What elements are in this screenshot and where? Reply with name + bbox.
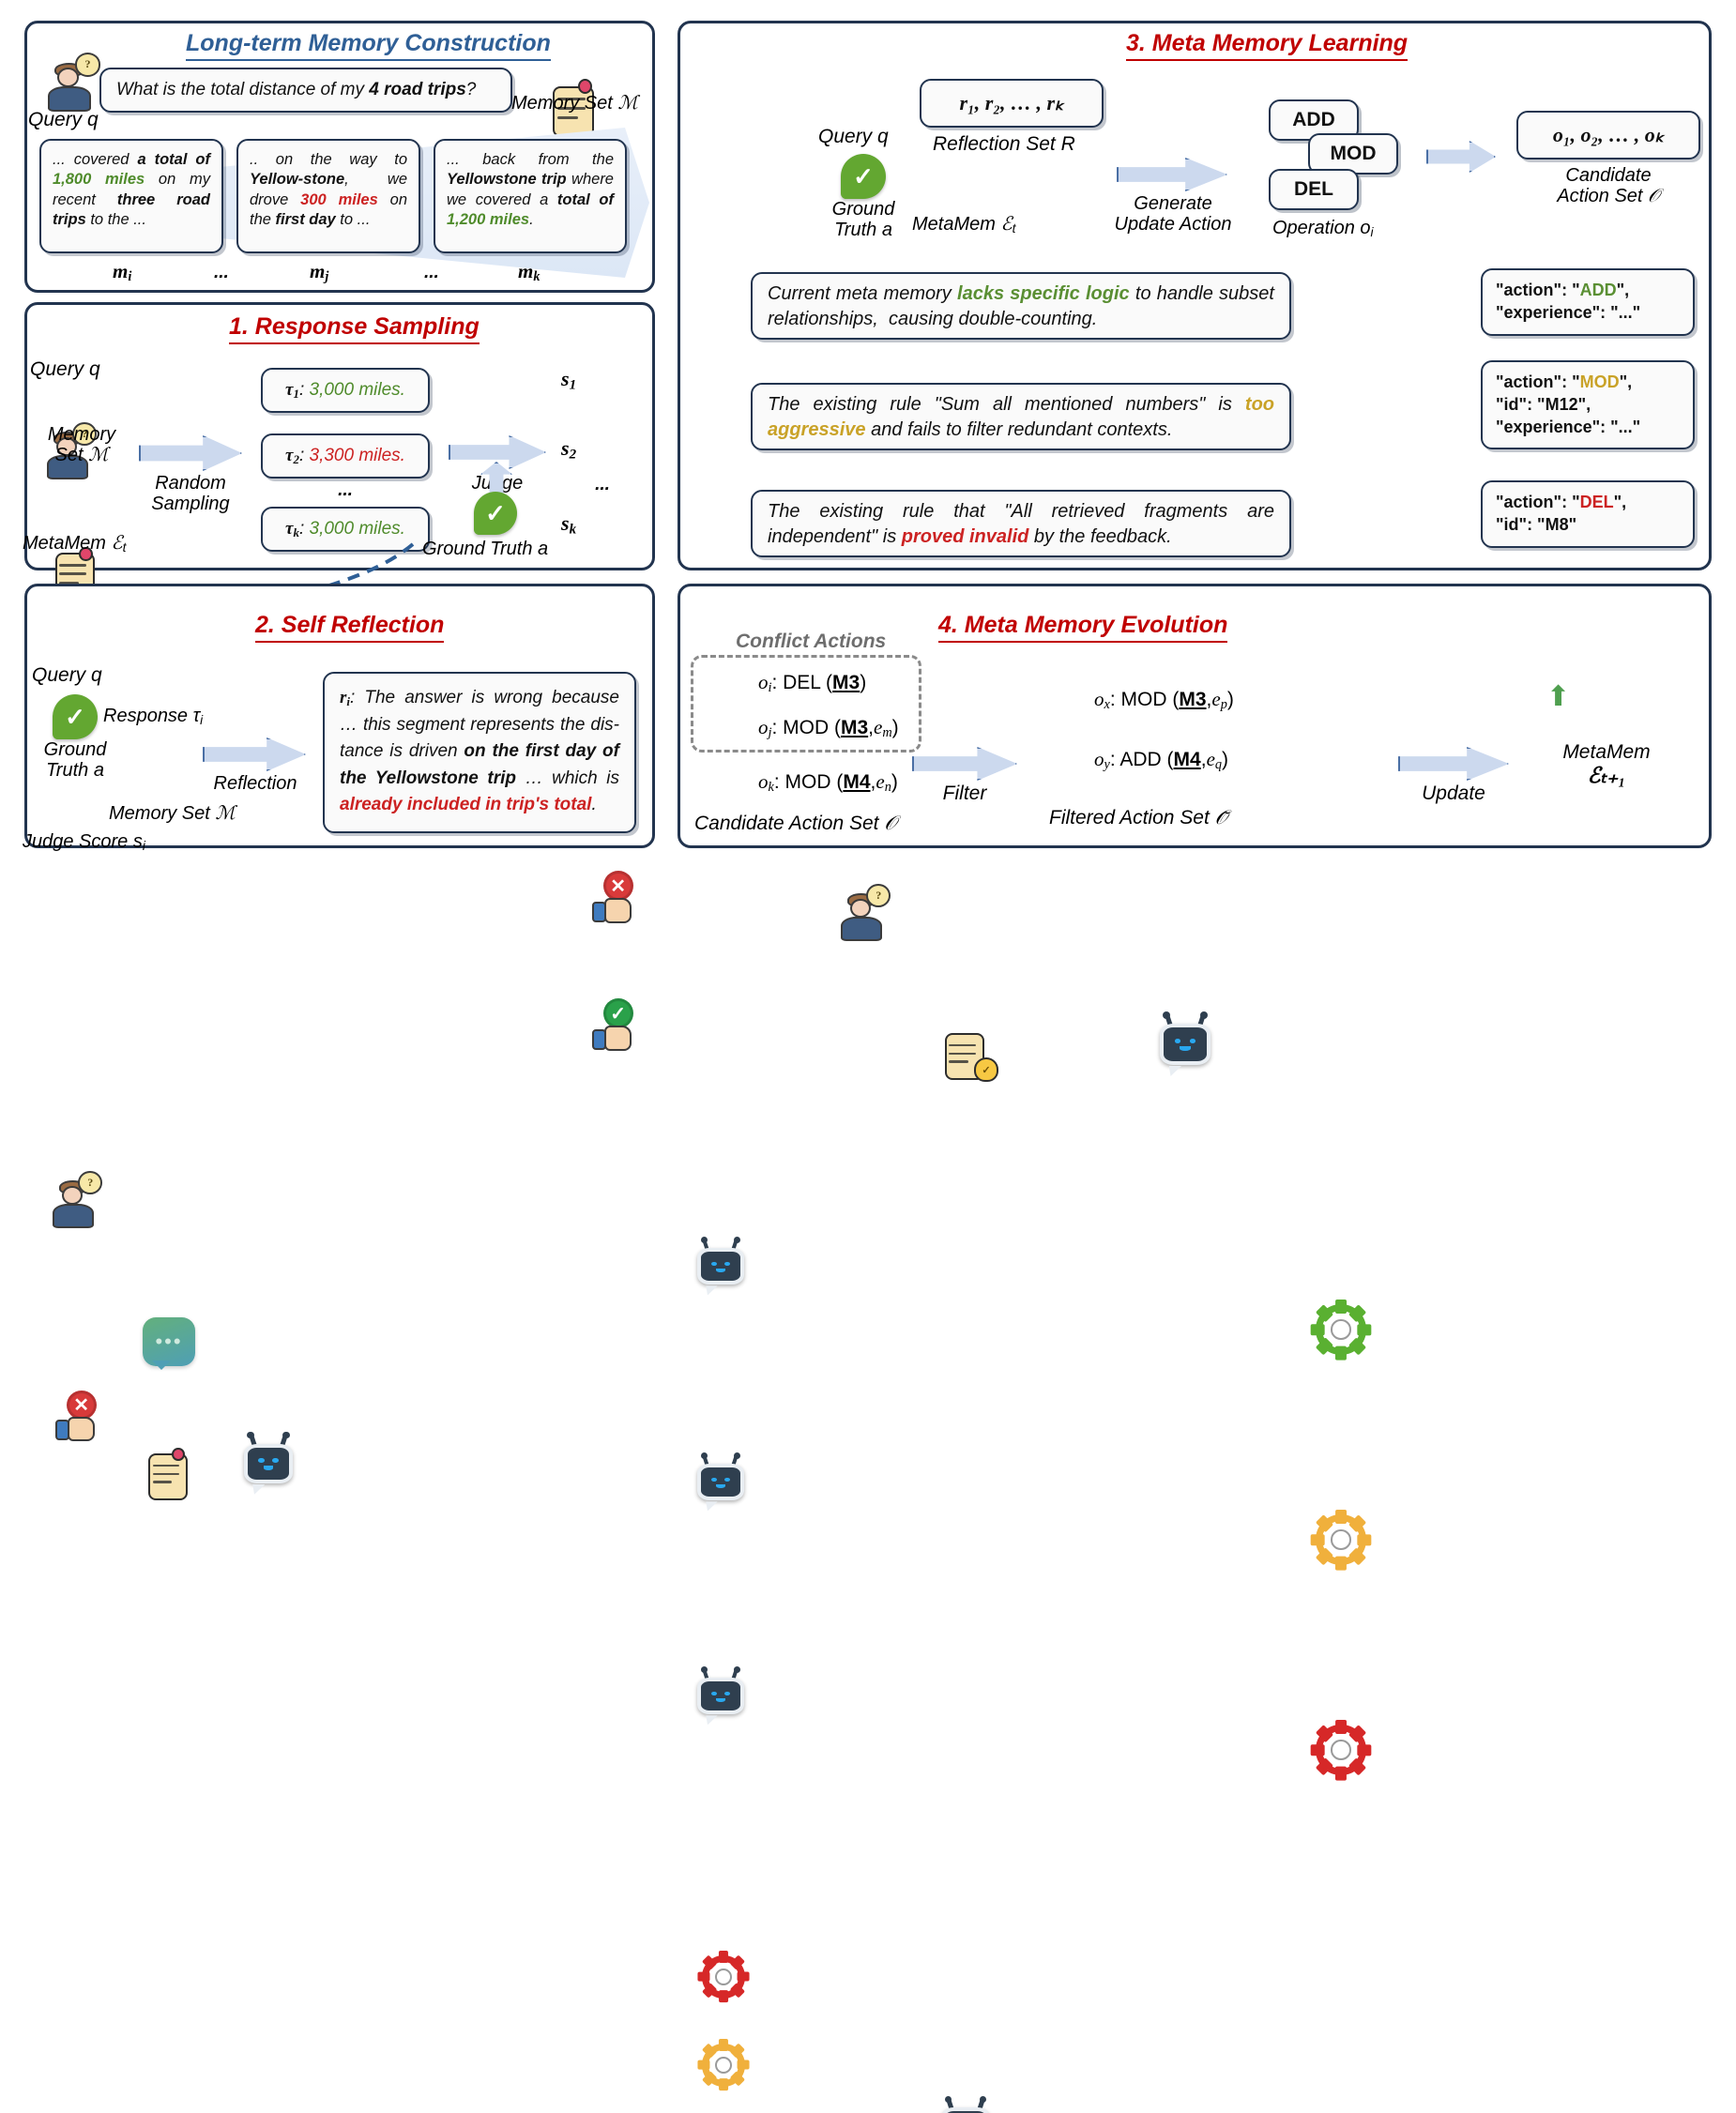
pin-icon: [578, 79, 592, 94]
reflection-set-label: Reflection Set R: [933, 133, 1075, 156]
response-box: τ1 : 3,000 miles.: [261, 368, 430, 413]
robot-icon: [694, 1668, 747, 1721]
robot-icon: [694, 1239, 747, 1291]
score-label: s2: [561, 437, 576, 463]
reflection-row-box: The existing rule "Sum all mentioned num…: [751, 383, 1291, 450]
question-bubble-icon: ?: [866, 884, 891, 907]
filter-label: Filter: [912, 783, 1017, 805]
filtered-action-item: oy: ADD (M4,eq): [1094, 749, 1228, 772]
json-line: "action": "MOD",: [1496, 372, 1680, 394]
candidate-action-caption: Candidate Action Set 𝒪: [1516, 165, 1700, 207]
reflection-set-box: r₁, r₂, … , rₖ: [920, 79, 1104, 128]
score-thumb-no-icon: ✕: [589, 871, 638, 923]
operation-caption: Operation oi: [1272, 218, 1374, 239]
metamem-next-label: MetaMem ℰₜ₊₁: [1535, 741, 1678, 787]
json-line: "id": "M12",: [1496, 394, 1680, 417]
reflection-set-value: r₁, r₂, … , rₖ: [960, 90, 1064, 117]
query-person-icon: ?: [43, 58, 98, 113]
json-line: "experience": "...": [1496, 302, 1680, 325]
memory-set-label-a: Memory Set ℳ: [511, 93, 638, 114]
json-line: "experience": "...": [1496, 417, 1680, 439]
timeline-ellipsis-1: ...: [214, 263, 229, 282]
reflection-row-text: The existing rule "Sum all mentioned num…: [768, 394, 1274, 440]
query-label-a: Query q: [28, 109, 99, 131]
response-value: : 3,000 miles.: [299, 379, 405, 403]
timeline-tick-mj: mj: [310, 261, 328, 284]
memory-set-label-c: Memory Set ℳ: [109, 803, 236, 824]
response-sampling-title: 1. Response Sampling: [229, 313, 480, 344]
ground-truth-check-icon: ✓: [474, 492, 517, 535]
candidate-action-set-caption: Candidate Action Set 𝒪: [694, 813, 897, 835]
memory-fragment-box: .. on the way to Yellow-stone, we drove …: [236, 139, 420, 253]
tau-label: τ1: [285, 379, 299, 403]
tau-label: τk: [285, 518, 299, 541]
memory-fragment-box: ... back from the Yellowstone trip where…: [434, 139, 627, 253]
gear-icon-del: [702, 1955, 745, 1999]
lightbulb-icon: ✓: [974, 1057, 998, 1082]
candidate-action-item: oi: DEL (M3): [758, 672, 866, 695]
robot-icon: [694, 1454, 747, 1507]
action-json-card-mod: "action": "MOD", "id": "M12", "experienc…: [1481, 360, 1695, 449]
update-label: Update: [1398, 783, 1509, 805]
reflection-row-text: The existing rule that "All retrieved fr…: [768, 501, 1274, 547]
operation-chip-del[interactable]: DEL: [1269, 169, 1359, 210]
query-label-b: Query q: [30, 358, 100, 381]
response-box: τ2 : 3,300 miles.: [261, 433, 430, 479]
json-line: "id": "M8": [1496, 514, 1680, 537]
memory-construction-title: Long-term Memory Construction: [186, 30, 551, 61]
query-text: What is the total distance of my 4 road …: [116, 79, 476, 102]
ground-truth-check-icon: ✓: [841, 154, 886, 199]
robot-icon: [240, 1434, 297, 1490]
fragment-text: ... covered a total of 1,800 miles on my…: [53, 151, 210, 228]
query-person-icon: ?: [837, 889, 888, 942]
meta-memory-learning-title: 3. Meta Memory Learning: [1126, 30, 1408, 61]
self-reflection-title: 2. Self Reflection: [255, 612, 444, 643]
filtered-action-set-caption: Filtered Action Set 𝒪̃: [1049, 807, 1227, 829]
judge-score-thumb-icon: ✕: [53, 1391, 101, 1441]
response-value: : 3,000 miles.: [299, 518, 405, 541]
question-bubble-icon: ?: [75, 53, 101, 77]
conflict-actions-label: Conflict Actions: [736, 631, 886, 653]
generate-update-action-label: Generate Update Action: [1105, 193, 1241, 236]
ground-truth-label-d: Ground Truth a: [813, 199, 914, 241]
memory-fragment-box: ... covered a total of 1,800 miles on my…: [39, 139, 223, 253]
reflection-row-box: The existing rule that "All retrieved fr…: [751, 490, 1291, 557]
filtered-action-item: ox: MOD (M3,ep): [1094, 689, 1234, 712]
timeline-tick-mk: mk: [518, 261, 540, 284]
judge-score-label: Judge Score si: [23, 831, 145, 853]
score-label: s1: [561, 368, 576, 393]
metamem-label-d: MetaMem ℰt: [912, 214, 1015, 236]
candidate-action-value: o₁, o₂, … , oₖ: [1553, 122, 1664, 149]
fragment-text: .. on the way to Yellow-stone, we drove …: [250, 151, 407, 228]
action-json-card-add: "action": "ADD", "experience": "...": [1481, 268, 1695, 336]
candidate-action-item: oj: MOD (M3,em): [758, 717, 899, 740]
responses-ellipsis: ...: [261, 480, 430, 500]
fragment-text: ... back from the Yellowstone trip where…: [447, 151, 614, 228]
response-label-c: Response τi: [103, 706, 203, 727]
response-chat-bubble-icon: •••: [143, 1317, 195, 1366]
question-bubble-icon: ?: [78, 1171, 102, 1194]
reflection-text: ri: The answer is wrong because … this s…: [340, 688, 619, 814]
ground-truth-label-c: Ground Truth a: [26, 739, 124, 782]
ground-truth-check-icon: ✓: [53, 694, 98, 739]
diagram-canvas: Long-term Memory Construction ? Query q …: [0, 0, 1736, 1056]
response-box: τk : 3,000 miles.: [261, 507, 430, 552]
ground-truth-label-b: Ground Truth a: [422, 539, 548, 559]
json-line: "action": "ADD",: [1496, 280, 1680, 302]
robot-icon: [938, 2098, 993, 2113]
metamem-next-arrow-icon: ⬆: [1546, 681, 1570, 713]
tau-label: τ2: [285, 445, 299, 468]
metamem-scroll-icon: ✓: [938, 1030, 991, 1083]
memory-set-scroll-icon: [143, 1451, 193, 1503]
query-person-icon: ?: [49, 1177, 99, 1229]
memory-set-label-b: Memory Set ℳ: [30, 424, 133, 466]
scores-ellipsis: ...: [574, 475, 631, 494]
metamem-label-b: MetaMem ℰt: [23, 533, 126, 555]
gear-icon-mod: [702, 2044, 745, 2087]
json-line: "action": "DEL",: [1496, 492, 1680, 514]
timeline-tick-mi: mi: [113, 261, 131, 284]
candidate-action-item: ok: MOD (M4,en): [758, 771, 898, 795]
candidate-action-box: o₁, o₂, … , oₖ: [1516, 111, 1700, 160]
reflection-arrow-label: Reflection: [197, 773, 313, 794]
query-label-d: Query q: [818, 126, 889, 148]
robot-icon: [1156, 1013, 1214, 1072]
query-label-c: Query q: [32, 664, 102, 687]
reflection-row-text: Current meta memory lacks specific logic…: [768, 283, 1274, 329]
score-label: sk: [561, 512, 576, 538]
random-sampling-label: Random Sampling: [131, 473, 250, 515]
score-thumb-ok-icon: ✓: [589, 998, 638, 1051]
response-value: : 3,300 miles.: [299, 445, 405, 468]
gear-icon-del: [1316, 1725, 1366, 1775]
reflection-row-box: Current meta memory lacks specific logic…: [751, 272, 1291, 340]
action-json-card-del: "action": "DEL", "id": "M8": [1481, 480, 1695, 548]
timeline-ellipsis-2: ...: [424, 263, 439, 282]
query-text-box: What is the total distance of my 4 road …: [99, 68, 512, 113]
reflection-text-box: ri: The answer is wrong because … this s…: [323, 672, 636, 833]
gear-icon-mod: [1316, 1514, 1366, 1565]
meta-memory-evolution-title: 4. Meta Memory Evolution: [938, 612, 1227, 643]
gear-icon-add: [1316, 1304, 1366, 1355]
